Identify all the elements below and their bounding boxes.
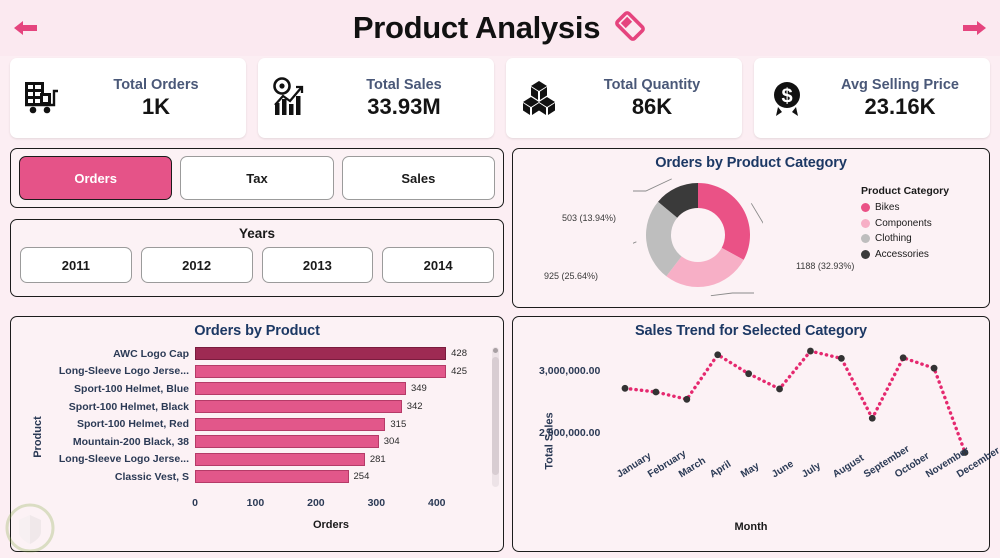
legend-item-bikes[interactable]: Bikes [861, 202, 979, 213]
bar-value-label: 254 [354, 471, 370, 482]
kpi-value: 1K [142, 94, 170, 120]
line-data-point[interactable] [900, 354, 907, 361]
line-chart-panel: Sales Trend for Selected Category Total … [512, 316, 990, 552]
bar-value-label: 425 [451, 366, 467, 377]
svg-text:$: $ [781, 86, 792, 108]
scrollbar-nub [493, 348, 498, 353]
year-button-row: 2011201220132014 [11, 241, 503, 283]
bar-row[interactable]: Sport-100 Helmet, Blue349 [35, 380, 497, 398]
bar-x-tick: 300 [368, 497, 386, 509]
bar-x-tick: 200 [307, 497, 325, 509]
line-data-point[interactable] [807, 348, 814, 355]
line-x-axis-title: Month [513, 521, 989, 533]
measure-button-row: OrdersTaxSales [11, 149, 503, 207]
bar-row[interactable]: AWC Logo Cap428 [35, 345, 497, 363]
donut-slice-bikes[interactable] [698, 183, 750, 260]
line-y-tick: 2,000,000.00 [539, 427, 600, 439]
bar-value-label: 349 [411, 383, 427, 394]
year-button-2013[interactable]: 2013 [262, 247, 374, 283]
title-group: Product Analysis [353, 9, 647, 48]
measure-button-sales[interactable]: Sales [342, 156, 495, 200]
bar-fill[interactable] [195, 347, 446, 360]
bar-category-label: Long-Sleeve Logo Jerse... [35, 365, 195, 377]
donut-data-label-clothing: 925 (25.64%) [544, 271, 598, 281]
bar-rows: AWC Logo Cap428Long-Sleeve Logo Jerse...… [35, 345, 497, 486]
donut-chart-body: 1188 (32.93%)992 (27.49%)925 (25.64%)503… [513, 171, 989, 301]
bar-chart-panel: Orders by Product Product AWC Logo Cap42… [10, 316, 504, 552]
bar-category-label: Sport-100 Helmet, Blue [35, 383, 195, 395]
measure-button-orders[interactable]: Orders [19, 156, 172, 200]
line-data-point[interactable] [745, 370, 752, 377]
line-data-point[interactable] [622, 385, 629, 392]
scrollbar-thumb[interactable] [492, 357, 499, 475]
year-button-2012[interactable]: 2012 [141, 247, 253, 283]
bar-track: 315 [195, 415, 467, 433]
bar-fill[interactable] [195, 382, 406, 395]
bar-fill[interactable] [195, 365, 446, 378]
line-data-point[interactable] [776, 386, 783, 393]
page-title: Product Analysis [353, 10, 600, 46]
bar-category-label: Classic Vest, S [35, 471, 195, 483]
kpi-strip: Total Orders 1K Total Sales 33. [0, 58, 1000, 138]
bar-chart-body: Product AWC Logo Cap428Long-Sleeve Logo … [11, 339, 503, 539]
bar-value-label: 304 [384, 436, 400, 447]
kpi-value: 23.16K [865, 94, 936, 120]
line-data-point[interactable] [683, 396, 690, 403]
line-y-tick: 3,000,000.00 [539, 365, 600, 377]
bar-x-tick: 0 [192, 497, 198, 509]
kpi-card-avg-selling-price[interactable]: $ Avg Selling Price 23.16K [754, 58, 990, 138]
line-data-point[interactable] [653, 389, 660, 396]
donut-chart-title: Orders by Product Category [513, 149, 989, 171]
line-data-point[interactable] [931, 365, 938, 372]
bar-row[interactable]: Sport-100 Helmet, Black342 [35, 398, 497, 416]
bar-row[interactable]: Sport-100 Helmet, Red315 [35, 415, 497, 433]
legend-item-label: Clothing [875, 233, 912, 244]
kpi-card-total-orders[interactable]: Total Orders 1K [10, 58, 246, 138]
sales-chart-icon [266, 73, 316, 123]
line-data-point[interactable] [869, 415, 876, 422]
legend-swatch-icon [861, 234, 870, 243]
bar-track: 428 [195, 345, 467, 363]
line-data-point[interactable] [714, 351, 721, 358]
kpi-card-total-quantity[interactable]: Total Quantity 86K [506, 58, 742, 138]
kpi-card-total-sales[interactable]: Total Sales 33.93M [258, 58, 494, 138]
bar-x-axis-title: Orders [195, 519, 467, 531]
month-label-may: May [739, 461, 761, 481]
kpi-label: Total Sales [366, 76, 441, 94]
bar-track: 425 [195, 363, 467, 381]
kpi-label: Avg Selling Price [841, 76, 959, 94]
donut-data-label-accessories: 503 (13.94%) [562, 213, 616, 223]
bar-x-tick: 400 [428, 497, 446, 509]
legend-item-label: Components [875, 218, 932, 229]
donut-chart-svg[interactable] [633, 173, 763, 299]
line-chart-title: Sales Trend for Selected Category [513, 317, 989, 339]
back-arrow-icon[interactable] [8, 14, 42, 42]
legend-swatch-icon [861, 203, 870, 212]
page-header: Product Analysis [0, 0, 1000, 56]
bar-category-label: Long-Sleeve Logo Jerse... [35, 453, 195, 465]
bar-chart-scrollbar[interactable] [492, 347, 499, 487]
bar-chart-title: Orders by Product [11, 317, 503, 339]
legend-item-label: Accessories [875, 249, 929, 260]
forward-arrow-icon[interactable] [958, 14, 992, 42]
bar-category-label: AWC Logo Cap [35, 348, 195, 360]
bar-value-label: 315 [390, 419, 406, 430]
month-label-july: July [800, 460, 823, 480]
donut-chart-panel: Orders by Product Category 1188 (32.93%)… [512, 148, 990, 308]
legend-title: Product Category [861, 185, 979, 197]
bar-category-label: Sport-100 Helmet, Red [35, 418, 195, 430]
legend-swatch-icon [861, 250, 870, 259]
bar-category-label: Mountain-200 Black, 38 [35, 436, 195, 448]
donut-data-label-bikes: 1188 (32.93%) [796, 261, 854, 271]
bar-fill[interactable] [195, 470, 349, 483]
dollar-coin-icon: $ [762, 73, 812, 123]
kpi-label: Total Orders [113, 76, 198, 94]
bar-row[interactable]: Long-Sleeve Logo Jerse...425 [35, 363, 497, 381]
legend-item-label: Bikes [875, 202, 899, 213]
dashboard-root: Product Analysis [0, 0, 1000, 558]
legend-item-components[interactable]: Components [861, 218, 979, 229]
bar-fill[interactable] [195, 400, 402, 413]
boxes-icon [514, 73, 564, 123]
bar-row[interactable]: Long-Sleeve Logo Jerse...281 [35, 451, 497, 469]
kpi-label: Total Quantity [604, 76, 700, 94]
bar-track: 349 [195, 380, 467, 398]
bar-row[interactable]: Classic Vest, S254 [35, 468, 497, 486]
line-y-axis-title: Total Sales [544, 412, 556, 469]
legend-item-clothing[interactable]: Clothing [861, 233, 979, 244]
bar-value-label: 342 [407, 401, 423, 412]
line-data-point[interactable] [838, 355, 845, 362]
year-button-2014[interactable]: 2014 [382, 247, 494, 283]
bar-row[interactable]: Mountain-200 Black, 38304 [35, 433, 497, 451]
year-button-2011[interactable]: 2011 [20, 247, 132, 283]
bar-category-label: Sport-100 Helmet, Black [35, 401, 195, 413]
bar-value-label: 281 [370, 454, 386, 465]
order-cart-icon [18, 73, 68, 123]
bar-track: 304 [195, 433, 467, 451]
measure-slicer-panel: OrdersTaxSales [10, 148, 504, 208]
diamond-logo-icon [613, 9, 647, 48]
bar-track: 281 [195, 451, 467, 469]
bar-fill[interactable] [195, 435, 379, 448]
donut-legend: Product Category BikesComponentsClothing… [861, 185, 979, 264]
years-slicer-label: Years [11, 220, 503, 241]
kpi-value: 86K [632, 94, 672, 120]
bar-track: 342 [195, 398, 467, 416]
bar-fill[interactable] [195, 418, 385, 431]
legend-swatch-icon [861, 219, 870, 228]
measure-button-tax[interactable]: Tax [180, 156, 333, 200]
years-slicer-panel: Years 2011201220132014 [10, 219, 504, 297]
legend-item-accessories[interactable]: Accessories [861, 249, 979, 260]
kpi-value: 33.93M [367, 94, 440, 120]
line-chart-svg[interactable] [617, 343, 977, 463]
bar-fill[interactable] [195, 453, 365, 466]
bar-x-tick: 100 [247, 497, 265, 509]
bar-value-label: 428 [451, 348, 467, 359]
line-chart-body: Total Sales 2,000,000.003,000,000.00 Jan… [513, 339, 989, 539]
bar-track: 254 [195, 468, 467, 486]
